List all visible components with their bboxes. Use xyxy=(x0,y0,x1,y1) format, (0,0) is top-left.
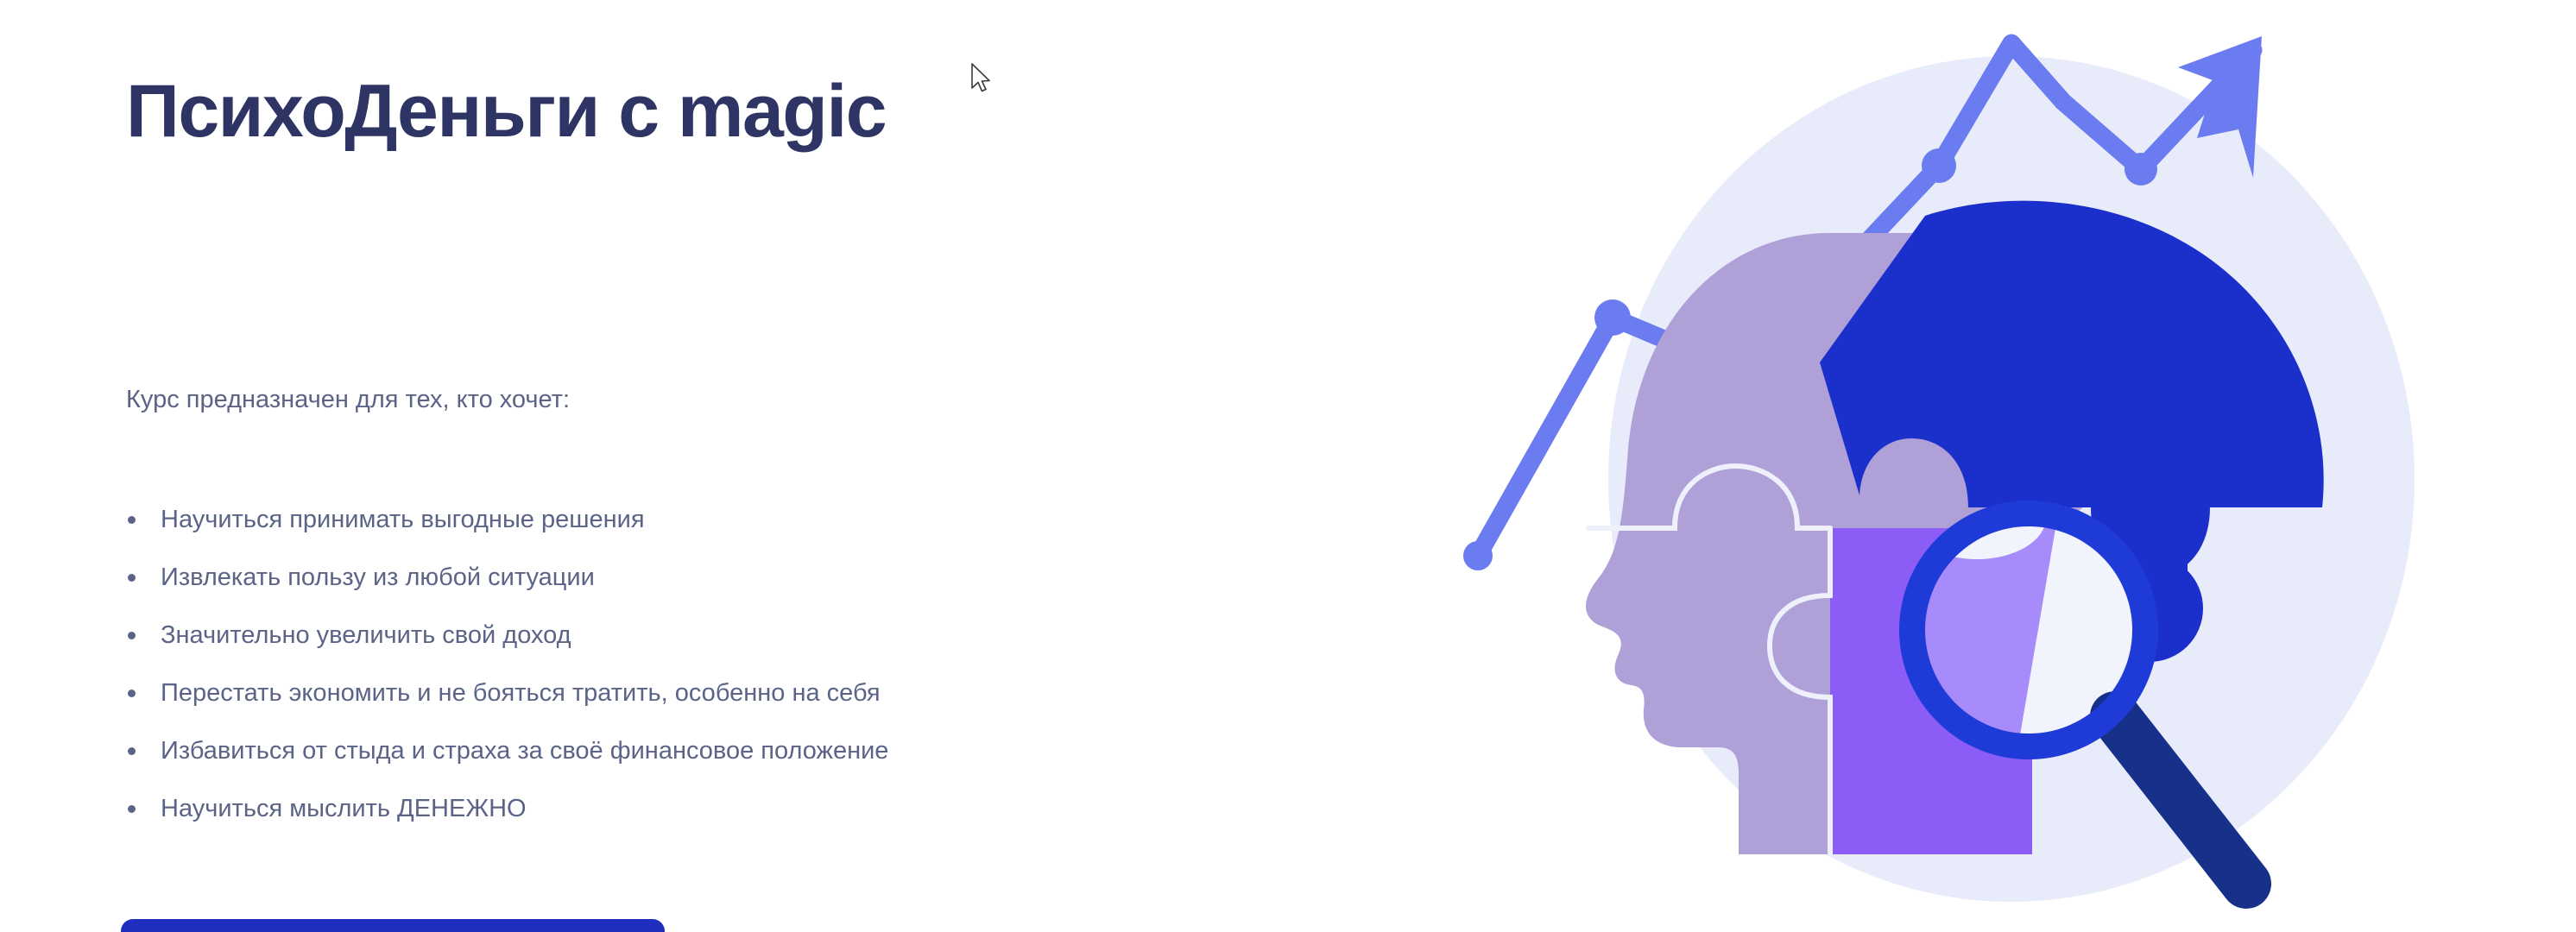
list-item: Значительно увеличить свой доход xyxy=(126,620,888,678)
list-item: Перестать экономить и не бояться тратить… xyxy=(126,678,888,736)
hero-illustration xyxy=(1459,0,2576,932)
content-column: ПсихоДеньги с magic Курс предназначен дл… xyxy=(0,0,1468,932)
list-item-label: Перестать экономить и не бояться тратить… xyxy=(161,679,881,707)
cta-button[interactable] xyxy=(121,919,665,932)
benefits-list: Научиться принимать выгодные решения Изв… xyxy=(126,505,888,852)
bullet-dot-icon xyxy=(128,574,136,582)
list-item-label: Научиться мыслить ДЕНЕЖНО xyxy=(161,795,527,822)
list-item-label: Значительно увеличить свой доход xyxy=(161,621,571,649)
bullet-dot-icon xyxy=(128,747,136,755)
list-item: Научиться мыслить ДЕНЕЖНО xyxy=(126,794,888,852)
landing-page-root: ПсихоДеньги с magic Курс предназначен дл… xyxy=(0,0,2576,932)
bullet-dot-icon xyxy=(128,805,136,813)
list-item-label: Избавиться от стыда и страха за своё фин… xyxy=(161,737,888,765)
bullet-dot-icon xyxy=(128,632,136,639)
bullet-dot-icon xyxy=(128,516,136,524)
list-item-label: Научиться принимать выгодные решения xyxy=(161,506,645,533)
list-item: Научиться принимать выгодные решения xyxy=(126,505,888,563)
bullet-dot-icon xyxy=(128,690,136,697)
list-item: Извлекать пользу из любой ситуации xyxy=(126,563,888,620)
list-item-label: Извлекать пользу из любой ситуации xyxy=(161,564,595,591)
page-title: ПсихоДеньги с magic xyxy=(126,72,886,150)
intro-paragraph: Курс предназначен для тех, кто хочет: xyxy=(126,386,570,414)
list-item: Избавиться от стыда и страха за своё фин… xyxy=(126,736,888,794)
